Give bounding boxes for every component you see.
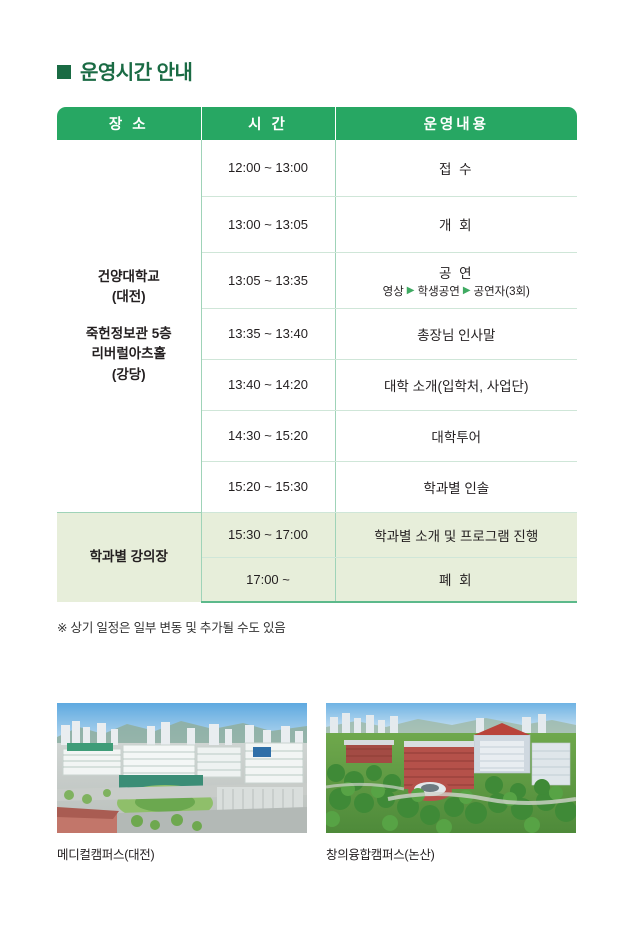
content-cell: 학과별 소개 및 프로그램 진행 <box>335 512 577 557</box>
content-cell: 학과별 인솔 <box>335 461 577 512</box>
content-cell: 폐 회 <box>335 557 577 602</box>
content-text: 폐 회 <box>340 569 574 589</box>
photo-creative-campus <box>326 703 576 833</box>
place-main-line1: 건양대학교 <box>61 267 197 287</box>
time-cell: 13:40 ~ 14:20 <box>201 359 335 410</box>
page-title: 운영시간 안내 <box>57 56 192 85</box>
schedule-table-container: 장 소 시 간 운영내용 건양대학교 (대전) 죽헌정보관 5층 리버럴아츠홀 … <box>57 107 577 603</box>
place-cell-main: 건양대학교 (대전) 죽헌정보관 5층 리버럴아츠홀 (강당) <box>57 140 201 512</box>
content-cell: 접 수 <box>335 140 577 196</box>
photo-medical-campus <box>57 703 307 833</box>
time-cell: 12:00 ~ 13:00 <box>201 140 335 196</box>
content-cell: 공 연 영상 ▶ 학생공연 ▶ 공연자(3회) <box>335 252 577 308</box>
content-text: 대학투어 <box>340 426 574 446</box>
place-main-line3: 죽헌정보관 5층 <box>61 324 197 344</box>
place-main-line2: (대전) <box>61 287 197 307</box>
table-row: 학과별 강의장 15:30 ~ 17:00 학과별 소개 및 프로그램 진행 <box>57 512 577 557</box>
performance-part-3: 공연자(3회) <box>474 283 530 299</box>
content-text: 학과별 인솔 <box>340 477 574 497</box>
content-cell: 총장님 인사말 <box>335 308 577 359</box>
time-cell: 13:05 ~ 13:35 <box>201 252 335 308</box>
content-text: 개 회 <box>340 214 574 234</box>
arrow-right-icon: ▶ <box>407 286 415 296</box>
square-bullet-icon <box>57 65 71 79</box>
arrow-right-icon: ▶ <box>463 286 471 296</box>
footnote: ※ 상기 일정은 일부 변동 및 추가될 수도 있음 <box>57 617 286 636</box>
column-header-content: 운영내용 <box>335 107 577 140</box>
photo-card-creative: 창의융합캠퍼스(논산) <box>326 703 576 863</box>
content-text: 접 수 <box>340 158 574 178</box>
content-cell: 대학 소개(입학처, 사업단) <box>335 359 577 410</box>
place-main-line5: (강당) <box>61 365 197 385</box>
time-cell: 14:30 ~ 15:20 <box>201 410 335 461</box>
photo-caption-creative: 창의융합캠퍼스(논산) <box>326 844 576 863</box>
time-cell: 13:00 ~ 13:05 <box>201 196 335 252</box>
content-text: 공 연 <box>340 262 574 282</box>
column-header-place: 장 소 <box>57 107 201 140</box>
place-main-line4: 리버럴아츠홀 <box>61 344 197 364</box>
table-header-row: 장 소 시 간 운영내용 <box>57 107 577 140</box>
content-text: 대학 소개(입학처, 사업단) <box>340 375 574 395</box>
time-cell: 13:35 ~ 13:40 <box>201 308 335 359</box>
content-text: 총장님 인사말 <box>340 324 574 344</box>
schedule-page: 운영시간 안내 장 소 시 간 운영내용 건양대학교 (대전) 죽헌정보 <box>0 0 633 929</box>
performance-part-1: 영상 <box>383 283 404 299</box>
table-row: 건양대학교 (대전) 죽헌정보관 5층 리버럴아츠홀 (강당) 12:00 ~ … <box>57 140 577 196</box>
campus-photos: 메디컬캠퍼스(대전) <box>57 703 577 863</box>
content-cell: 개 회 <box>335 196 577 252</box>
time-cell: 15:20 ~ 15:30 <box>201 461 335 512</box>
aerial-photo-medical-campus-image <box>57 703 307 833</box>
aerial-photo-creative-campus-image <box>326 703 576 833</box>
page-title-text: 운영시간 안내 <box>80 56 192 85</box>
place-cell-dept: 학과별 강의장 <box>57 512 201 602</box>
content-subtext: 영상 ▶ 학생공연 ▶ 공연자(3회) <box>340 283 574 299</box>
content-cell: 대학투어 <box>335 410 577 461</box>
content-text: 학과별 소개 및 프로그램 진행 <box>340 525 574 545</box>
performance-part-2: 학생공연 <box>417 283 459 299</box>
photo-card-medical: 메디컬캠퍼스(대전) <box>57 703 307 863</box>
schedule-table: 장 소 시 간 운영내용 건양대학교 (대전) 죽헌정보관 5층 리버럴아츠홀 … <box>57 107 577 603</box>
column-header-time: 시 간 <box>201 107 335 140</box>
photo-caption-medical: 메디컬캠퍼스(대전) <box>57 844 307 863</box>
time-cell: 17:00 ~ <box>201 557 335 602</box>
time-cell: 15:30 ~ 17:00 <box>201 512 335 557</box>
table-header: 장 소 시 간 운영내용 <box>57 107 577 140</box>
table-body: 건양대학교 (대전) 죽헌정보관 5층 리버럴아츠홀 (강당) 12:00 ~ … <box>57 140 577 602</box>
